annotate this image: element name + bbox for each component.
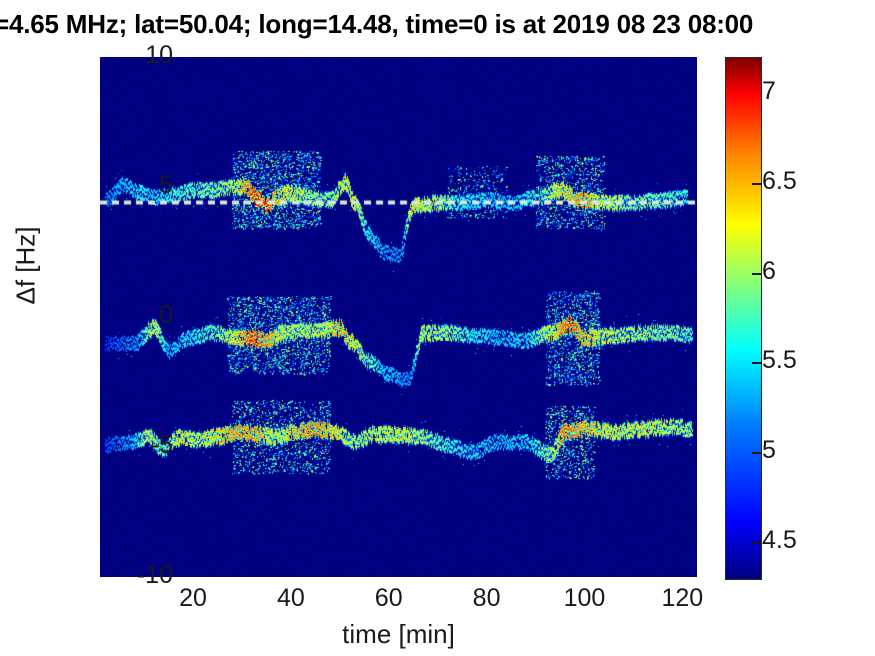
x-axis-label: time [min] — [100, 619, 697, 650]
y-tick-label: 10 — [83, 41, 173, 70]
colorbar — [725, 57, 762, 580]
y-tick-label: 5 — [83, 171, 173, 200]
colorbar-tick-label: 5.5 — [762, 346, 852, 375]
colorbar-tick-label: 6.5 — [762, 167, 852, 196]
figure-container: =4.65 MHz; lat=50.04; long=14.48, time=0… — [0, 0, 875, 656]
y-axis-label: Δf [Hz] — [11, 26, 42, 506]
y-tick-label: -5 — [83, 431, 173, 460]
colorbar-tick-label: 4.5 — [762, 526, 852, 555]
figure-title: =4.65 MHz; lat=50.04; long=14.48, time=0… — [0, 8, 875, 40]
colorbar-tick-label: 6 — [762, 257, 852, 286]
colorbar-tick-mark — [752, 452, 761, 454]
colorbar-tick-mark — [752, 542, 761, 544]
plot-area — [100, 57, 697, 577]
x-tick-label: 120 — [622, 584, 742, 613]
colorbar-tick-label: 5 — [762, 436, 852, 465]
y-tick-label: 0 — [83, 301, 173, 330]
spectrogram-canvas — [100, 57, 697, 577]
colorbar-tick-label: 7 — [762, 77, 852, 106]
colorbar-tick-mark — [752, 362, 761, 364]
colorbar-tick-mark — [752, 273, 761, 275]
colorbar-tick-mark — [752, 183, 761, 185]
